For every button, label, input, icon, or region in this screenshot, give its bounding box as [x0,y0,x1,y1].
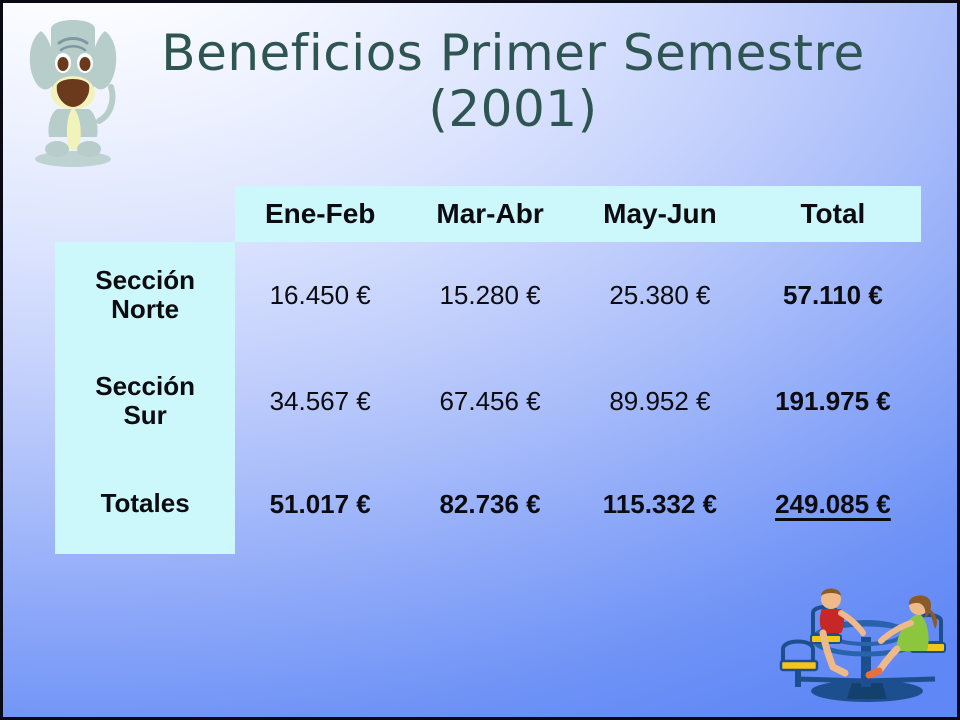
cell-norte-ene-feb: 16.450 € [235,242,405,348]
cell-totales-ene-feb: 51.017 € [235,454,405,554]
row-label-seccion-norte: Sección Norte [55,242,235,348]
cell-sur-mar-abr: 67.456 € [405,348,575,454]
column-header-mar-abr: Mar-Abr [405,186,575,242]
column-header-may-jun: May-Jun [575,186,745,242]
benefits-table: Ene-Feb Mar-Abr May-Jun Total Sección No… [55,186,921,554]
cell-sur-total: 191.975 € [745,348,921,454]
cell-grand-total: 249.085 € [745,454,921,554]
slide-title: Beneficios Primer Semestre (2001) [123,25,903,137]
table-row-seccion-sur: Sección Sur 34.567 € 67.456 € 89.952 € 1… [55,348,921,454]
row-label-seccion-sur: Sección Sur [55,348,235,454]
cell-norte-may-jun: 25.380 € [575,242,745,348]
table-header-row: Ene-Feb Mar-Abr May-Jun Total [55,186,921,242]
row-label-totales: Totales [55,454,235,554]
row-label-line1: Sección [95,371,195,401]
cell-totales-may-jun: 115.332 € [575,454,745,554]
cell-sur-ene-feb: 34.567 € [235,348,405,454]
slide-canvas: Beneficios Primer Semestre (2001) Ene-Fe… [0,0,960,720]
table-row-totales: Totales 51.017 € 82.736 € 115.332 € 249.… [55,454,921,554]
cell-norte-total: 57.110 € [745,242,921,348]
cell-norte-mar-abr: 15.280 € [405,242,575,348]
children-merry-go-round-icon [775,583,955,711]
cartoon-dog-icon [17,9,129,169]
column-header-total: Total [745,186,921,242]
table-row-seccion-norte: Sección Norte 16.450 € 15.280 € 25.380 €… [55,242,921,348]
table-corner-blank [55,186,235,242]
column-header-ene-feb: Ene-Feb [235,186,405,242]
row-label-line2: Sur [123,400,166,430]
row-label-line1: Sección [95,265,195,295]
cell-totales-mar-abr: 82.736 € [405,454,575,554]
row-label-line2: Norte [111,294,179,324]
cell-sur-may-jun: 89.952 € [575,348,745,454]
